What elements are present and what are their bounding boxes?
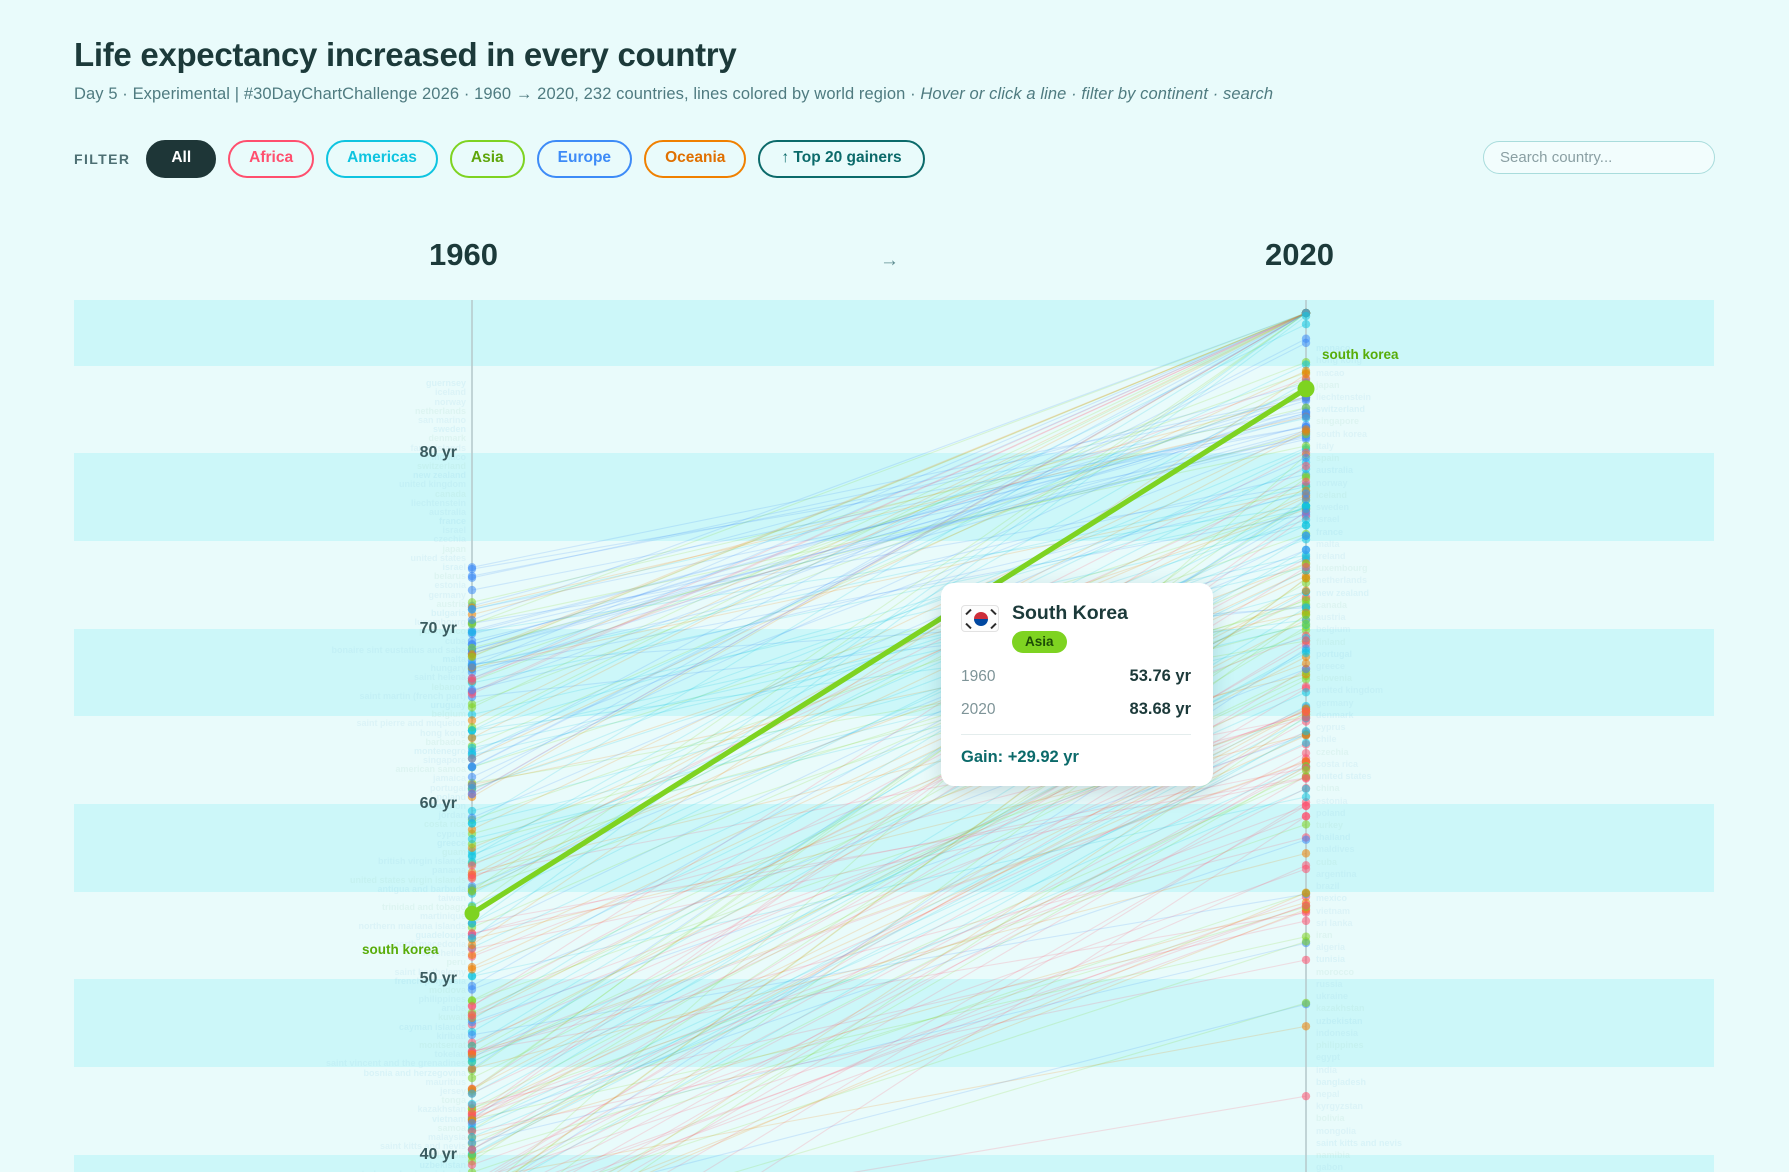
subtitle-hint: Hover or click a line · filter by contin… — [920, 85, 1273, 103]
year-label-1960: 1960 — [429, 237, 498, 273]
filter-pill-africa[interactable]: Africa — [228, 140, 314, 178]
highlight-label-left: south korea — [362, 942, 439, 957]
tooltip-1960-key: 1960 — [961, 668, 995, 686]
y-tick-50: 50 yr — [367, 970, 457, 988]
country-tooltip: South Korea Asia 1960 53.76 yr 2020 83.6… — [941, 583, 1213, 786]
filter-pill-americas[interactable]: Americas — [326, 140, 438, 178]
search-container — [1483, 141, 1715, 174]
arrow-icon: → — [880, 250, 899, 272]
filter-label: FILTER — [74, 151, 130, 167]
page-subtitle: Day 5 · Experimental | #30DayChartChalle… — [74, 85, 1273, 104]
flag-south-korea-icon — [961, 605, 999, 632]
tooltip-region-badge: Asia — [1012, 631, 1067, 653]
tooltip-country-name: South Korea — [1012, 602, 1128, 624]
year-label-2020: 2020 — [1265, 237, 1334, 273]
filter-pill-europe[interactable]: Europe — [537, 140, 632, 178]
subtitle-main: Day 5 · Experimental | #30DayChartChalle… — [74, 85, 920, 103]
filter-pill-oceania[interactable]: Oceania — [644, 140, 746, 178]
page-title: Life expectancy increased in every count… — [74, 36, 1273, 74]
filter-pill-asia[interactable]: Asia — [450, 140, 525, 178]
tooltip-1960-value: 53.76 yr — [1130, 667, 1191, 686]
tooltip-row-2020: 2020 83.68 yr — [961, 700, 1191, 719]
highlight-label-right: south korea — [1322, 347, 1399, 362]
tooltip-2020-value: 83.68 yr — [1130, 700, 1191, 719]
filter-pill-all[interactable]: All — [146, 140, 216, 178]
y-tick-40: 40 yr — [367, 1146, 457, 1164]
tooltip-row-1960: 1960 53.76 yr — [961, 667, 1191, 686]
tooltip-gain: Gain: +29.92 yr — [961, 748, 1191, 767]
tooltip-header: South Korea Asia — [961, 602, 1191, 653]
tooltip-2020-key: 2020 — [961, 701, 995, 719]
search-input[interactable] — [1483, 141, 1715, 174]
y-axis-ticks: 80 yr70 yr60 yr50 yr40 yr — [74, 300, 1714, 1172]
y-tick-70: 70 yr — [367, 620, 457, 638]
filter-pill-top-gainers[interactable]: ↑ Top 20 gainers — [758, 140, 924, 178]
tooltip-divider — [961, 734, 1191, 735]
y-tick-60: 60 yr — [367, 795, 457, 813]
slope-chart-plot[interactable]: guernseyicelandnorwaynetherlandssan mari… — [74, 300, 1714, 1172]
y-tick-80: 80 yr — [367, 444, 457, 462]
app-root: Life expectancy increased in every count… — [0, 0, 1789, 1172]
page-header: Life expectancy increased in every count… — [74, 36, 1273, 104]
filter-bar: FILTER All Africa Americas Asia Europe O… — [74, 140, 925, 178]
